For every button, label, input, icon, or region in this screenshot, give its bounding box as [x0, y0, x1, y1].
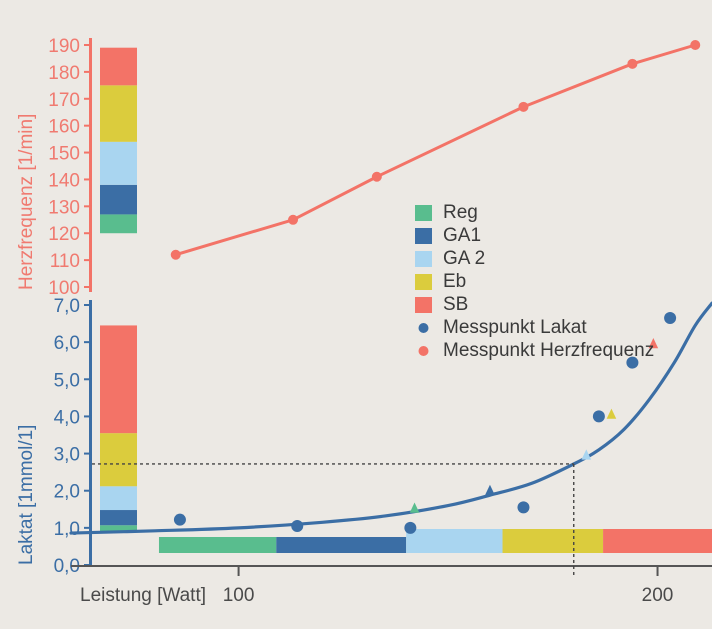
hf-data-point[interactable]	[627, 59, 637, 69]
legend-label-reg: Reg	[443, 202, 478, 223]
hf-zone-segment-ga1	[100, 185, 137, 215]
power-zone-segment-ga2	[406, 529, 502, 553]
hf-tick-label: 160	[48, 117, 80, 138]
x-tick-label: 100	[223, 585, 255, 606]
lactate-tick-label: 2,0	[54, 482, 80, 503]
lactate-zone-segment-eb	[100, 433, 137, 486]
lactate-data-point[interactable]	[593, 410, 605, 422]
legend: RegGA1GA 2EbSBMesspunkt LakatMesspunkt H…	[415, 202, 654, 361]
legend-label-ga1: GA1	[443, 225, 481, 246]
chart-canvas: 100110120130140150160170180190Herzfreque…	[0, 0, 712, 629]
legend-swatch-ga2	[415, 251, 432, 267]
x-axis-title: Leistung [Watt]	[80, 585, 206, 606]
legend-swatch-eb	[415, 274, 432, 290]
x-axis-group: 100200Leistung [Watt]	[71, 566, 712, 606]
hf-zone-bar	[100, 48, 137, 234]
hf-zone-segment-sb	[100, 48, 137, 86]
hf-tick-label: 120	[48, 224, 80, 245]
lactate-tick-label: 1,0	[54, 519, 80, 540]
hf-zone-segment-eb	[100, 85, 137, 141]
lactate-axis-group: 0,01,02,03,04,05,06,07,0Laktat [1mmol/1]	[16, 296, 92, 577]
hf-series-group	[171, 40, 701, 260]
power-zone-segment-reg	[159, 537, 276, 553]
zone-marker-eb[interactable]	[607, 409, 617, 419]
hf-line	[176, 45, 696, 255]
lactate-zone-segment-sb	[100, 325, 137, 433]
power-zone-segment-sb	[603, 529, 712, 553]
zone-marker-reg[interactable]	[410, 503, 420, 513]
hf-tick-label: 190	[48, 36, 80, 57]
lactate-zone-segment-ga2	[100, 486, 137, 510]
x-tick-label: 200	[642, 585, 674, 606]
lactate-zone-bar	[100, 325, 137, 531]
hf-data-point[interactable]	[518, 102, 528, 112]
lactate-tick-label: 7,0	[54, 296, 80, 317]
hf-zone-segment-reg	[100, 214, 137, 233]
lactate-tick-label: 4,0	[54, 407, 80, 428]
power-zone-segment-eb	[503, 529, 604, 553]
legend-label-sb: SB	[443, 294, 468, 315]
legend-swatch-sb	[415, 297, 432, 313]
lactate-data-point[interactable]	[517, 501, 529, 513]
legend-swatch-reg	[415, 205, 432, 221]
lactate-data-point[interactable]	[404, 522, 416, 534]
lactate-tick-label: 6,0	[54, 333, 80, 354]
hf-data-point[interactable]	[171, 250, 181, 260]
legend-label-messpunkt-herzfrequenz: Messpunkt Herzfrequenz	[443, 340, 654, 361]
hf-axis-title: Herzfrequenz [1/min]	[16, 114, 37, 290]
hf-data-point[interactable]	[690, 40, 700, 50]
legend-dot-messpunkt-lakat	[419, 323, 429, 333]
lactate-data-point[interactable]	[664, 312, 676, 324]
lactate-data-point[interactable]	[174, 514, 186, 526]
lactate-zone-segment-ga1	[100, 510, 137, 525]
power-zone-segment-ga1	[276, 537, 406, 553]
zone-marker-ga1[interactable]	[485, 485, 495, 495]
lactate-performance-chart: 100110120130140150160170180190Herzfreque…	[0, 0, 712, 629]
lactate-tick-label: 3,0	[54, 445, 80, 466]
legend-label-eb: Eb	[443, 271, 466, 292]
hf-tick-label: 150	[48, 144, 80, 165]
legend-swatch-ga1	[415, 228, 432, 244]
lactate-tick-label: 5,0	[54, 370, 80, 391]
hf-tick-label: 140	[48, 170, 80, 191]
hf-axis-group: 100110120130140150160170180190Herzfreque…	[16, 36, 92, 299]
legend-label-ga-2: GA 2	[443, 248, 485, 269]
hf-tick-label: 180	[48, 63, 80, 84]
hf-data-point[interactable]	[288, 215, 298, 225]
lactate-axis-title: Laktat [1mmol/1]	[16, 425, 37, 565]
legend-label-messpunkt-lakat: Messpunkt Lakat	[443, 317, 587, 338]
lactate-data-point[interactable]	[291, 520, 303, 532]
hf-tick-label: 170	[48, 90, 80, 111]
hf-tick-label: 130	[48, 197, 80, 218]
power-zone-bar	[159, 529, 712, 553]
hf-tick-label: 110	[50, 251, 80, 272]
hf-zone-segment-ga2	[100, 142, 137, 185]
legend-dot-messpunkt-herzfrequenz	[419, 346, 429, 356]
hf-data-point[interactable]	[372, 172, 382, 182]
zone-marker-group	[410, 338, 658, 513]
